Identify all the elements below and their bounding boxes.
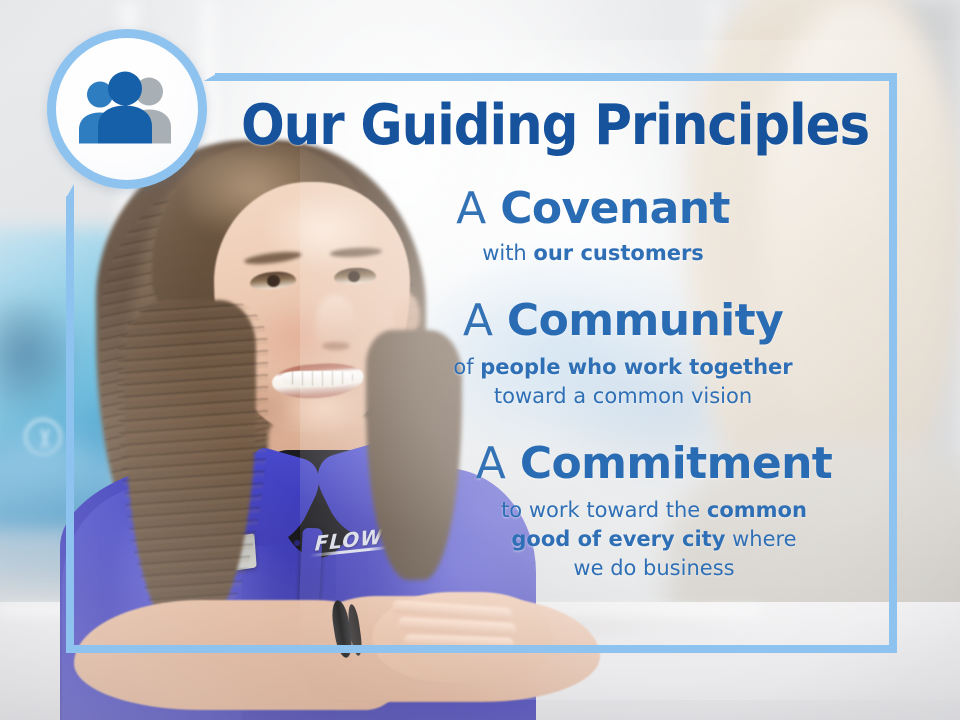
principle-subtext: with our customers [286,239,900,268]
subtext-plain: we do business [573,556,734,580]
promo-graphic: FLOW FLOW AUTOMOTIVE [0,0,960,720]
page-title: Our Guiding Principles [238,96,873,156]
subtext-emphasis: good of every city [511,527,725,551]
principle-article: A [476,438,520,489]
principle-title: A Commitment [408,437,900,491]
principle-subtext-line: toward a common vision [346,382,900,411]
principle-subtext-line: with our customers [286,239,900,268]
subtext-plain: to work toward the [501,498,707,522]
principle-subtext-line: of people who work together [346,353,900,382]
principle-subtext-line: we do business [408,554,900,583]
text-content: Our Guiding Principles A Covenantwith ou… [0,0,960,720]
principle-subtext: to work toward the commongood of every c… [408,496,900,583]
principle-block: A Communityof people who work togetherto… [346,294,900,411]
principle-block: A Commitmentto work toward the commongoo… [408,437,900,583]
principle-article: A [463,295,507,346]
principle-article: A [456,183,500,234]
principle-keyword: Covenant [500,183,730,234]
principle-subtext-line: good of every city where [408,525,900,554]
principle-block: A Covenantwith our customers [286,182,900,268]
principle-title: A Covenant [286,182,900,236]
principle-subtext: of people who work togethertoward a comm… [346,353,900,411]
subtext-plain: toward a common vision [494,384,752,408]
subtext-emphasis: our customers [533,241,703,265]
principle-keyword: Community [507,295,783,346]
subtext-emphasis: common [707,498,807,522]
principles-list: A Covenantwith our customersA Communityo… [300,182,900,597]
principle-subtext-line: to work toward the common [408,496,900,525]
subtext-plain: where [725,527,796,551]
principle-keyword: Commitment [520,438,832,489]
subtext-plain: with [482,241,533,265]
subtext-emphasis: people who work together [480,355,792,379]
subtext-plain: of [453,355,480,379]
principle-title: A Community [346,294,900,348]
